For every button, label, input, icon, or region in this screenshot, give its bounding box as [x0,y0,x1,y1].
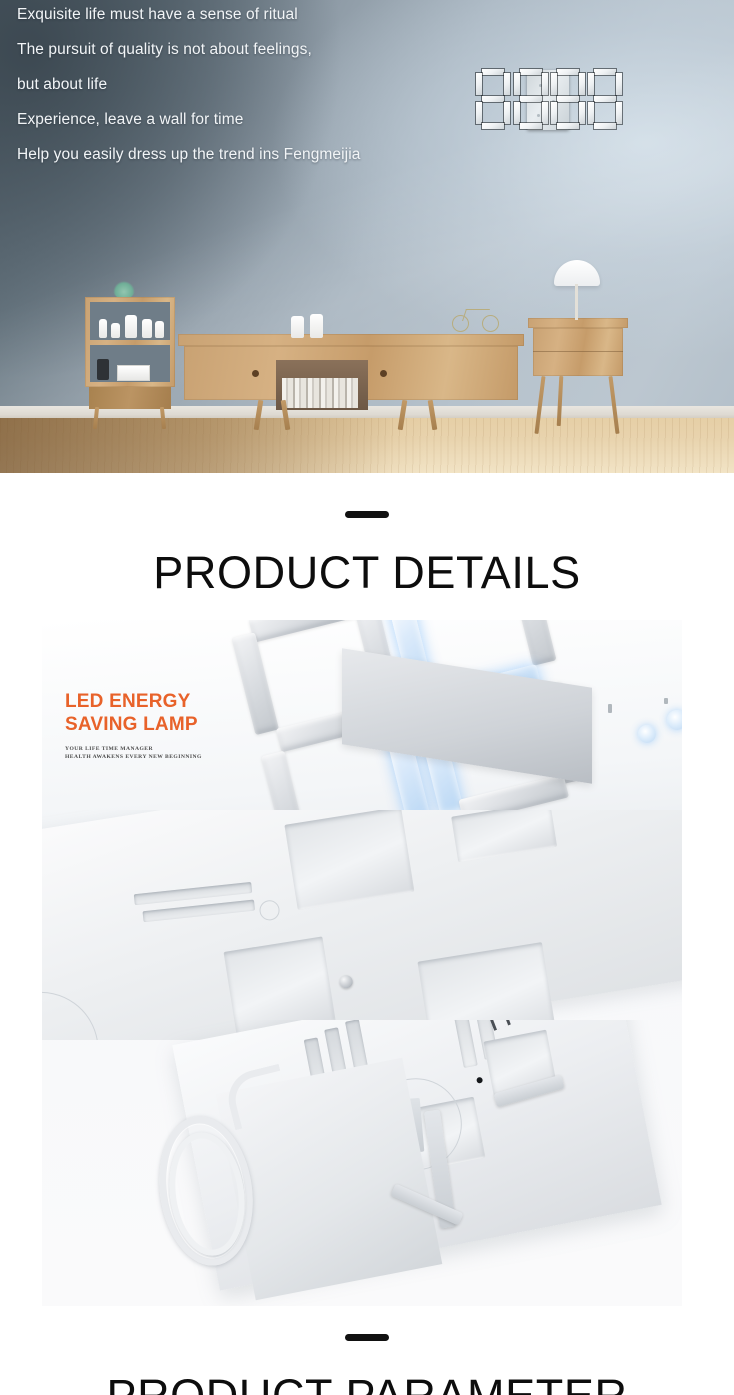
caption-1-subtitle: YOUR LIFE TIME MANAGER HEALTH AWAKENS EV… [65,745,202,762]
shelf-unit [85,297,175,409]
caption-1-sub-line-1: YOUR LIFE TIME MANAGER [65,745,202,753]
product-detail-page: Exquisite life must have a sense of ritu… [0,0,734,1395]
clock-digit-3 [550,69,586,129]
side-table-drawers [533,328,623,376]
collage-panel-stable-base: STABLE BASE YOUR LIFE TIME MANAGER HEALT… [42,1020,682,1306]
hero-copy-line-1: Exquisite life must have a sense of ritu… [17,0,577,32]
side-table-top [528,318,628,328]
bicycle-figurine [452,305,506,333]
clock-back-plate-photo [42,810,682,1040]
product-details-title: PRODUCT DETAILS [0,544,734,602]
led-indicator-dot-2 [667,710,682,730]
hero-copy-line-2: The pursuit of quality is not about feel… [17,32,577,67]
product-parameter-title: PRODUCT PARAMETER [0,1367,734,1395]
console-top [178,334,524,346]
console-body [184,346,518,400]
heading-dash-icon-2 [345,1334,389,1341]
collage-panel-led-lamp: LED ENERGY SAVING LAMP YOUR LIFE TIME MA… [42,620,682,832]
led-indicator-dot-1 [638,725,656,743]
product-details-heading: PRODUCT DETAILS [0,511,734,602]
caption-1-sub-line-2: HEALTH AWAKENS EVERY NEW BEGINNING [65,753,202,761]
hero-copy-line-5: Help you easily dress up the trend ins F… [17,137,577,172]
wall-clock-product [475,69,623,131]
tv-console [178,334,524,434]
hero-banner: Exquisite life must have a sense of ritu… [0,0,734,473]
product-details-collage: LED ENERGY SAVING LAMP YOUR LIFE TIME MA… [42,620,682,1306]
caption-led-energy-saving-lamp: LED ENERGY SAVING LAMP YOUR LIFE TIME MA… [65,690,202,762]
clock-digit-1 [475,69,511,129]
table-lamp-pole [575,284,578,320]
clock-digit-2 [513,69,549,129]
side-table [528,318,628,436]
shelf-body [85,297,175,387]
clock-digit-4 [587,69,623,129]
collage-panel-quality: STRICTLY SELECTED QUALITY YOUR LIFE TIME… [42,810,682,1040]
caption-1-title-line-2: SAVING LAMP [65,713,202,736]
shelf-drawer [89,387,171,409]
console-magazines [282,378,358,408]
product-parameter-heading: PRODUCT PARAMETER [0,1334,734,1395]
caption-1-title-line-1: LED ENERGY [65,690,202,713]
heading-dash-icon [345,511,389,518]
